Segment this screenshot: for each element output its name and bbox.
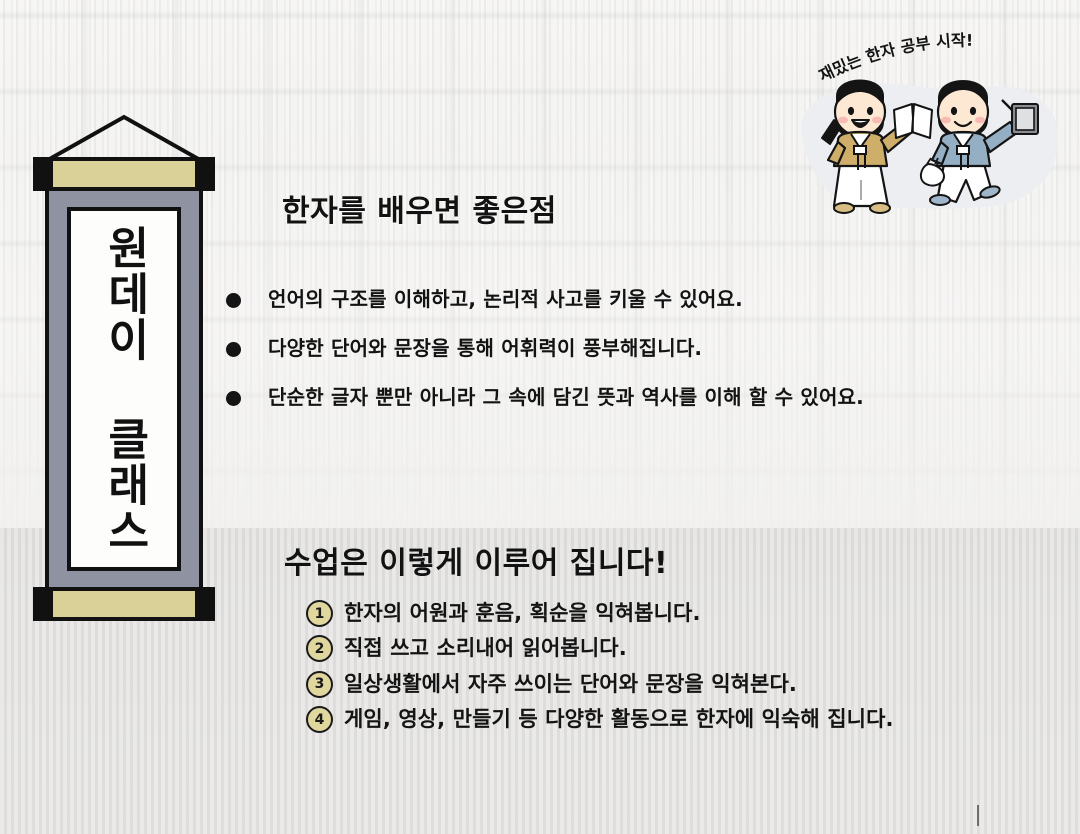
text-cursor-caret [977, 805, 979, 826]
scroll-rod-cap-left-bottom [33, 587, 53, 621]
scroll-rod-cap-left [33, 157, 53, 191]
scroll-title: 원데이 클래스 [100, 225, 148, 554]
bullet-dot-icon [226, 293, 241, 308]
benefit-list-item: 단순한 글자 뿐만 아니라 그 속에 담긴 뜻과 역사를 이해 할 수 있어요. [226, 384, 1066, 411]
step-text: 한자의 어원과 훈음, 획순을 익혀봅니다. [344, 600, 701, 627]
scroll-rod-top [33, 157, 215, 191]
benefit-text: 언어의 구조를 이해하고, 논리적 사고를 키울 수 있어요. [268, 286, 743, 313]
howto-step-item: 1 한자의 어원과 훈음, 획순을 익혀봅니다. [306, 600, 1064, 627]
step-text: 직접 쓰고 소리내어 읽어봅니다. [344, 635, 627, 662]
howto-title: 수업은 이렇게 이루어 집니다! [284, 538, 1064, 582]
step-text: 일상생활에서 자주 쓰이는 단어와 문장을 익혀본다. [344, 671, 797, 698]
benefits-list: 언어의 구조를 이해하고, 논리적 사고를 키울 수 있어요. 다양한 단어와 … [226, 286, 1066, 411]
benefit-text: 다양한 단어와 문장을 통해 어휘력이 풍부해집니다. [268, 335, 702, 362]
hanging-scroll: 원데이 클래스 [33, 113, 215, 641]
benefit-list-item: 언어의 구조를 이해하고, 논리적 사고를 키울 수 있어요. [226, 286, 1066, 313]
bullet-dot-icon [226, 391, 241, 406]
bullet-dot-icon [226, 342, 241, 357]
scroll-rod-cap-right-bottom [195, 587, 215, 621]
howto-step-item: 4 게임, 영상, 만들기 등 다양한 활동으로 한자에 익숙해 집니다. [306, 706, 1064, 733]
howto-step-item: 2 직접 쓰고 소리내어 읽어봅니다. [306, 635, 1064, 662]
step-number-badge: 4 [306, 706, 333, 733]
scroll-frame: 원데이 클래스 [45, 187, 203, 591]
scroll-rod-cap-right [195, 157, 215, 191]
scroll-paper: 원데이 클래스 [67, 207, 181, 571]
howto-step-list: 1 한자의 어원과 훈음, 획순을 익혀봅니다. 2 직접 쓰고 소리내어 읽어… [284, 600, 1064, 733]
benefit-list-item: 다양한 단어와 문장을 통해 어휘력이 풍부해집니다. [226, 335, 1066, 362]
step-number-badge: 3 [306, 671, 333, 698]
benefit-text: 단순한 글자 뿐만 아니라 그 속에 담긴 뜻과 역사를 이해 할 수 있어요. [268, 384, 864, 411]
step-number-badge: 2 [306, 635, 333, 662]
step-text: 게임, 영상, 만들기 등 다양한 활동으로 한자에 익숙해 집니다. [344, 706, 894, 733]
slide-canvas: 원데이 클래스 재밌는 한자 공부 시작! [0, 0, 1080, 834]
benefits-section: 한자를 배우면 좋은점 언어의 구조를 이해하고, 논리적 사고를 키울 수 있… [226, 186, 1066, 433]
scroll-rod-bottom [33, 587, 215, 621]
howto-step-item: 3 일상생활에서 자주 쓰이는 단어와 문장을 익혀본다. [306, 671, 1064, 698]
step-number-badge: 1 [306, 600, 333, 627]
howto-section: 수업은 이렇게 이루어 집니다! 1 한자의 어원과 훈음, 획순을 익혀봅니다… [284, 538, 1064, 741]
benefits-title: 한자를 배우면 좋은점 [282, 186, 1066, 230]
